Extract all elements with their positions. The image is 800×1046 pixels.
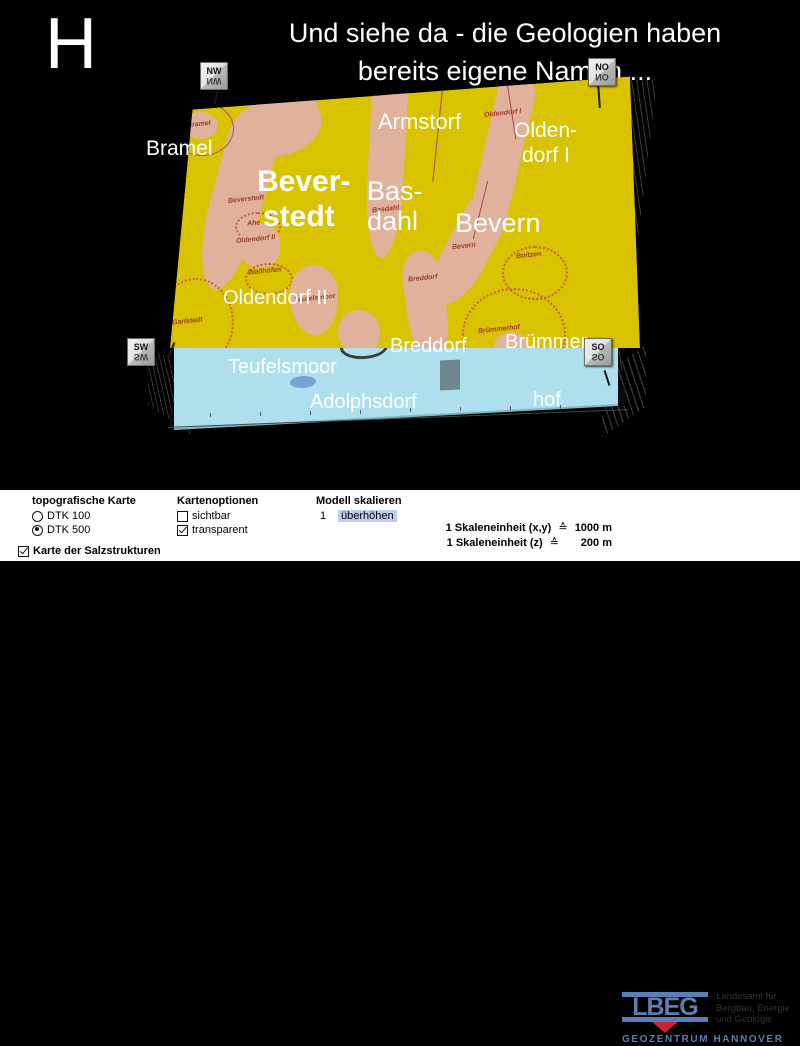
- checkbox-option-salt-structures[interactable]: Karte der Salzstrukturen: [18, 545, 161, 557]
- map-label-oldendorf-ii: Oldendorf II: [223, 288, 328, 308]
- axis-tick: [210, 413, 211, 417]
- group-title-scale-model: Modell skalieren: [316, 495, 402, 507]
- radio-label-dtk-100: DTK 100: [47, 510, 90, 522]
- compass-cube-sw-top: SW: [134, 342, 149, 352]
- compass-cube-nw-bottom: NW: [207, 76, 222, 86]
- compass-cube-no-top: NO: [595, 62, 609, 72]
- map-label-bevern: Bevern: [455, 210, 541, 238]
- map-label-oldendorf-i-2: dorf I: [522, 145, 570, 166]
- compass-cube-nw[interactable]: NW NW: [200, 62, 228, 90]
- application-window: H Und siehe da - die Geologien haben ber…: [0, 0, 800, 561]
- checkbox-sichtbar[interactable]: [177, 511, 188, 522]
- logo-footer: GEOZENTRUM HANNOVER: [622, 1034, 794, 1045]
- compass-cube-so-top: SO: [591, 342, 604, 352]
- scale-unit-z-symbol: ≙: [550, 537, 559, 549]
- compass-cube-so-bottom: SO: [591, 352, 604, 362]
- page-marker-letter: H: [45, 8, 97, 80]
- scale-value-input[interactable]: 1: [316, 510, 330, 522]
- group-title-map-options: Kartenoptionen: [177, 495, 258, 507]
- group-title-topographic-map: topografische Karte: [32, 495, 136, 507]
- group-map-options: Kartenoptionen sichtbar transparent: [177, 495, 258, 536]
- scale-unit-z: 1 Skaleneinheit (z) ≙ 200 m: [432, 536, 612, 551]
- group-topographic-map: topografische Karte DTK 100 DTK 500: [32, 495, 136, 536]
- base-blob-feature-2: [440, 359, 460, 390]
- checkbox-salt-structures[interactable]: [18, 546, 29, 557]
- logo-wordmark: LBEG: [622, 992, 708, 1022]
- radio-option-dtk-100[interactable]: DTK 100: [32, 510, 136, 522]
- map-label-adolphsdorf: Adolphsdorf: [310, 392, 417, 412]
- checkbox-label-transparent: transparent: [192, 524, 248, 536]
- logo-triangle-icon: [652, 1022, 678, 1033]
- map-label-basdahl-1: Bas-: [367, 178, 423, 206]
- control-panel: topografische Karte DTK 100 DTK 500 Kart…: [0, 490, 800, 561]
- map-label-bruemmerhof-1: Brümmer-: [505, 332, 594, 352]
- scale-unit-xy-symbol: ≙: [558, 522, 567, 534]
- scale-unit-xy: 1 Skaleneinheit (x,y) ≙ 1000 m: [432, 521, 612, 536]
- map-label-teufelsmoor: Teufelsmoor: [228, 357, 337, 377]
- model-viewport[interactable]: H Und siehe da - die Geologien haben ber…: [0, 0, 800, 490]
- scale-unit-z-value: 200 m: [566, 536, 612, 551]
- map-label-armstorf: Armstorf: [378, 111, 461, 133]
- axis-tick: [460, 407, 461, 411]
- checkbox-option-sichtbar[interactable]: sichtbar: [177, 510, 258, 522]
- logo-subtitle: Landesamt für Bergbau, Energie und Geolo…: [716, 991, 796, 1026]
- compass-cube-sw[interactable]: SW SW: [127, 338, 155, 366]
- axis-tick: [260, 412, 261, 416]
- scale-unit-z-label: 1 Skaleneinheit (z): [447, 537, 543, 549]
- checkbox-label-salt-structures: Karte der Salzstrukturen: [33, 545, 161, 557]
- scale-unit-xy-value: 1000 m: [575, 522, 612, 534]
- radio-option-dtk-500[interactable]: DTK 500: [32, 524, 136, 536]
- lbeg-logo[interactable]: LBEG Landesamt für Bergbau, Energie und …: [622, 990, 794, 1046]
- scale-exaggerate-button[interactable]: überhöhen: [338, 510, 397, 522]
- scale-unit-xy-label: 1 Skaleneinheit (x,y): [446, 522, 552, 534]
- radio-dtk-100[interactable]: [32, 511, 43, 522]
- radio-label-dtk-500: DTK 500: [47, 524, 90, 536]
- salt-caption-ahe: Ahe: [247, 219, 261, 227]
- map-label-breddorf: Breddorf: [390, 336, 467, 356]
- axis-tick: [510, 406, 511, 410]
- group-scale-model: Modell skalieren 1 überhöhen: [316, 495, 402, 522]
- geological-3d-block[interactable]: Bramel Armstorf Oldendorf I Beverstedt B…: [150, 60, 650, 480]
- checkbox-label-sichtbar: sichtbar: [192, 510, 231, 522]
- map-label-beverstedt-1: Bever-: [257, 167, 350, 198]
- map-label-beverstedt-2: stedt: [263, 202, 335, 233]
- compass-cube-so[interactable]: SO SO: [584, 338, 612, 366]
- radio-dtk-500[interactable]: [32, 525, 43, 536]
- map-label-bruemmerhof-2: hof: [533, 390, 561, 410]
- map-label-oldendorf-i-1: Olden-: [514, 120, 577, 141]
- compass-cube-no-bottom: NO: [595, 72, 609, 82]
- checkbox-option-transparent[interactable]: transparent: [177, 524, 258, 536]
- group-scale-units: 1 Skaleneinheit (x,y) ≙ 1000 m 1 Skalene…: [432, 521, 612, 551]
- compass-cube-no[interactable]: NO NO: [588, 58, 616, 86]
- scale-row: 1 überhöhen: [316, 510, 402, 522]
- compass-cube-nw-top: NW: [207, 66, 222, 76]
- map-label-basdahl-2: dahl: [367, 208, 418, 236]
- checkbox-transparent[interactable]: [177, 525, 188, 536]
- compass-cube-sw-bottom: SW: [134, 352, 149, 362]
- map-label-bramel: Bramel: [146, 138, 213, 159]
